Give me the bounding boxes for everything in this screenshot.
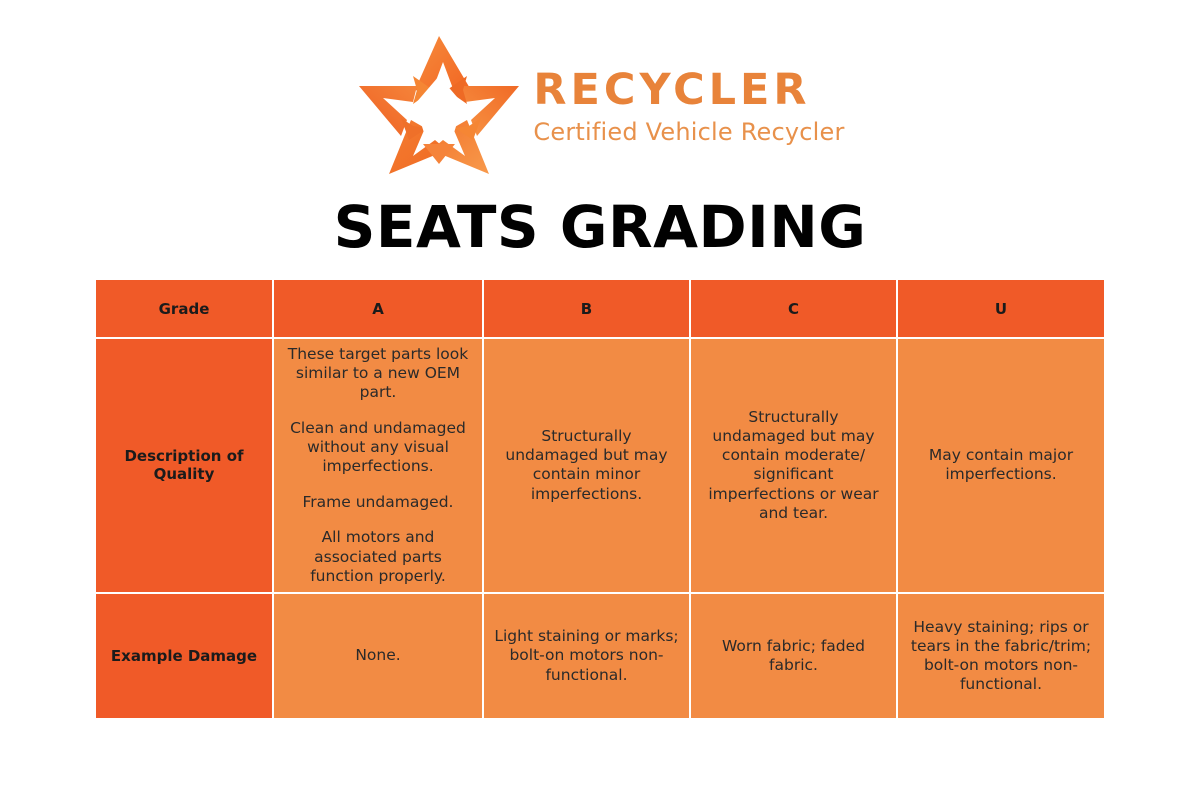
grading-document-page: RECYCLER Certified Vehicle Recycler SEAT… (0, 0, 1200, 800)
cell-paragraph: May contain major imperfections. (908, 446, 1094, 484)
page-title: SEATS GRADING (0, 196, 1200, 260)
brand-name: RECYCLER (533, 68, 844, 113)
cell-example-b: Light staining or marks; bolt-on motors … (484, 594, 691, 718)
brand-tagline: Certified Vehicle Recycler (533, 117, 844, 148)
cell-example-c: Worn fabric; faded fabric. (691, 594, 898, 718)
seats-grading-table: Grade A B C U Description of Quality The… (96, 280, 1104, 718)
cell-paragraph: These target parts look similar to a new… (284, 345, 472, 403)
column-header-c: C (691, 280, 898, 339)
table-row: Example Damage None. Light staining or m… (96, 594, 1104, 718)
cell-paragraph: Structurally undamaged but may contain m… (701, 408, 886, 523)
table-row: Description of Quality These target part… (96, 339, 1104, 594)
cell-description-c: Structurally undamaged but may contain m… (691, 339, 898, 594)
column-header-b: B (484, 280, 691, 339)
cell-paragraph: None. (284, 646, 472, 665)
cell-paragraph: Light staining or marks; bolt-on motors … (494, 627, 679, 685)
cell-paragraph: Clean and undamaged without any visual i… (284, 419, 472, 477)
brand-wordmark: RECYCLER Certified Vehicle Recycler (533, 62, 844, 148)
brand-logo: RECYCLER Certified Vehicle Recycler (0, 30, 1200, 180)
recycling-star-logo-icon (355, 32, 523, 178)
cell-example-u: Heavy staining; rips or tears in the fab… (898, 594, 1104, 718)
column-header-grade: Grade (96, 280, 274, 339)
cell-description-b: Structurally undamaged but may contain m… (484, 339, 691, 594)
cell-description-a: These target parts look similar to a new… (274, 339, 484, 594)
column-header-a: A (274, 280, 484, 339)
row-label-example-damage: Example Damage (96, 594, 274, 718)
cell-paragraph: Frame undamaged. (284, 493, 472, 512)
cell-paragraph: Heavy staining; rips or tears in the fab… (908, 618, 1094, 695)
column-header-u: U (898, 280, 1104, 339)
row-label-description-of-quality: Description of Quality (96, 339, 274, 594)
cell-paragraph: Structurally undamaged but may contain m… (494, 427, 679, 504)
cell-paragraph: All motors and associated parts function… (284, 528, 472, 586)
cell-example-a: None. (274, 594, 484, 718)
cell-paragraph: Worn fabric; faded fabric. (701, 637, 886, 675)
cell-description-u: May contain major imperfections. (898, 339, 1104, 594)
table-header-row: Grade A B C U (96, 280, 1104, 339)
